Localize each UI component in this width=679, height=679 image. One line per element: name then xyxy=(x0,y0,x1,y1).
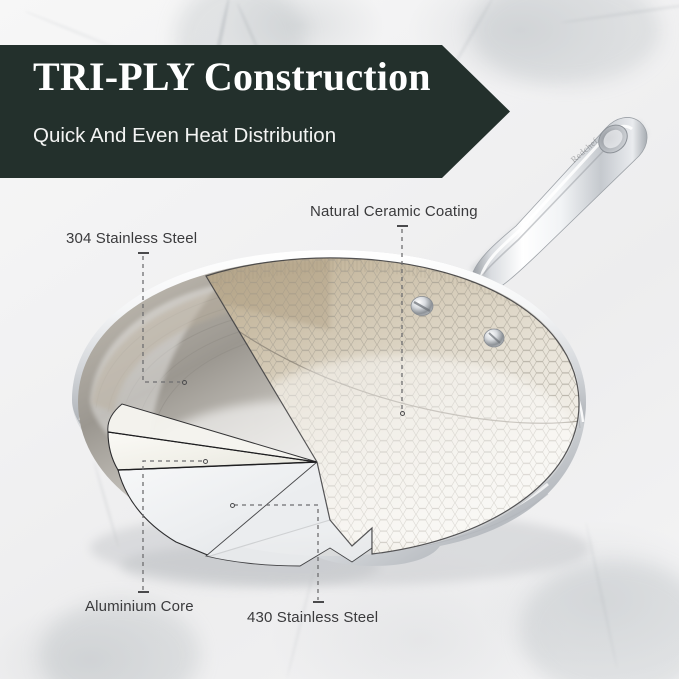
tick-ceramic xyxy=(397,225,408,227)
dot-ceramic xyxy=(400,411,405,416)
page-title: TRI-PLY Construction xyxy=(33,57,431,97)
dot-304 xyxy=(182,380,187,385)
pan-handle xyxy=(470,117,648,296)
tick-430 xyxy=(313,601,324,603)
callout-label-430-stainless-steel: 430 Stainless Steel xyxy=(247,609,378,626)
dot-430 xyxy=(230,503,235,508)
product-infographic: 304 Stainless Steel Natural Ceramic Coat… xyxy=(0,0,679,679)
dot-aluminium xyxy=(203,459,208,464)
callout-label-304-stainless-steel: 304 Stainless Steel xyxy=(66,230,197,247)
tick-304 xyxy=(138,252,149,254)
page-subtitle: Quick And Even Heat Distribution xyxy=(33,126,336,147)
callout-label-aluminium-core: Aluminium Core xyxy=(85,598,194,615)
callout-label-natural-ceramic-coating: Natural Ceramic Coating xyxy=(310,203,478,220)
tick-aluminium xyxy=(138,591,149,593)
